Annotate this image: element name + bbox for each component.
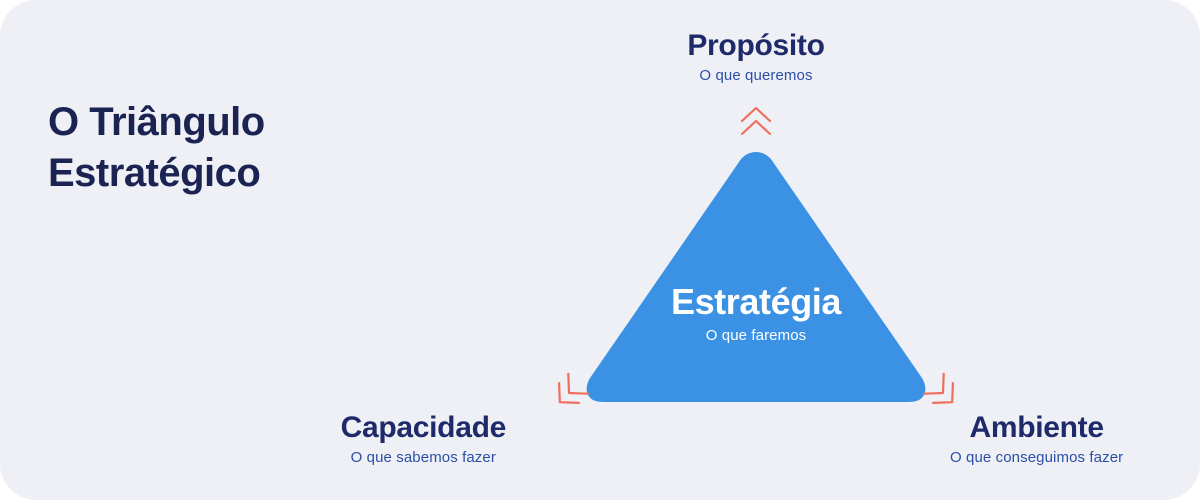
vertex-title-purpose: Propósito (687, 30, 824, 62)
vertex-label-capability: Capacidade O que sabemos fazer (341, 412, 506, 466)
vertex-title-capability: Capacidade (341, 412, 506, 444)
page-title: O Triângulo Estratégico (48, 97, 265, 199)
double-chevron-up-icon (738, 104, 774, 138)
diagram-canvas: O Triângulo Estratégico Propósito O que … (0, 0, 1200, 500)
vertex-title-environment: Ambiente (950, 412, 1123, 444)
vertex-subtitle-environment: O que conseguimos fazer (950, 449, 1123, 466)
triangle-shape (570, 140, 942, 412)
vertex-label-purpose: Propósito O que queremos (687, 30, 824, 84)
strategy-triangle: Estratégia O que faremos (570, 140, 942, 412)
vertex-label-environment: Ambiente O que conseguimos fazer (950, 412, 1123, 466)
vertex-subtitle-purpose: O que queremos (687, 67, 824, 84)
vertex-subtitle-capability: O que sabemos fazer (341, 449, 506, 466)
